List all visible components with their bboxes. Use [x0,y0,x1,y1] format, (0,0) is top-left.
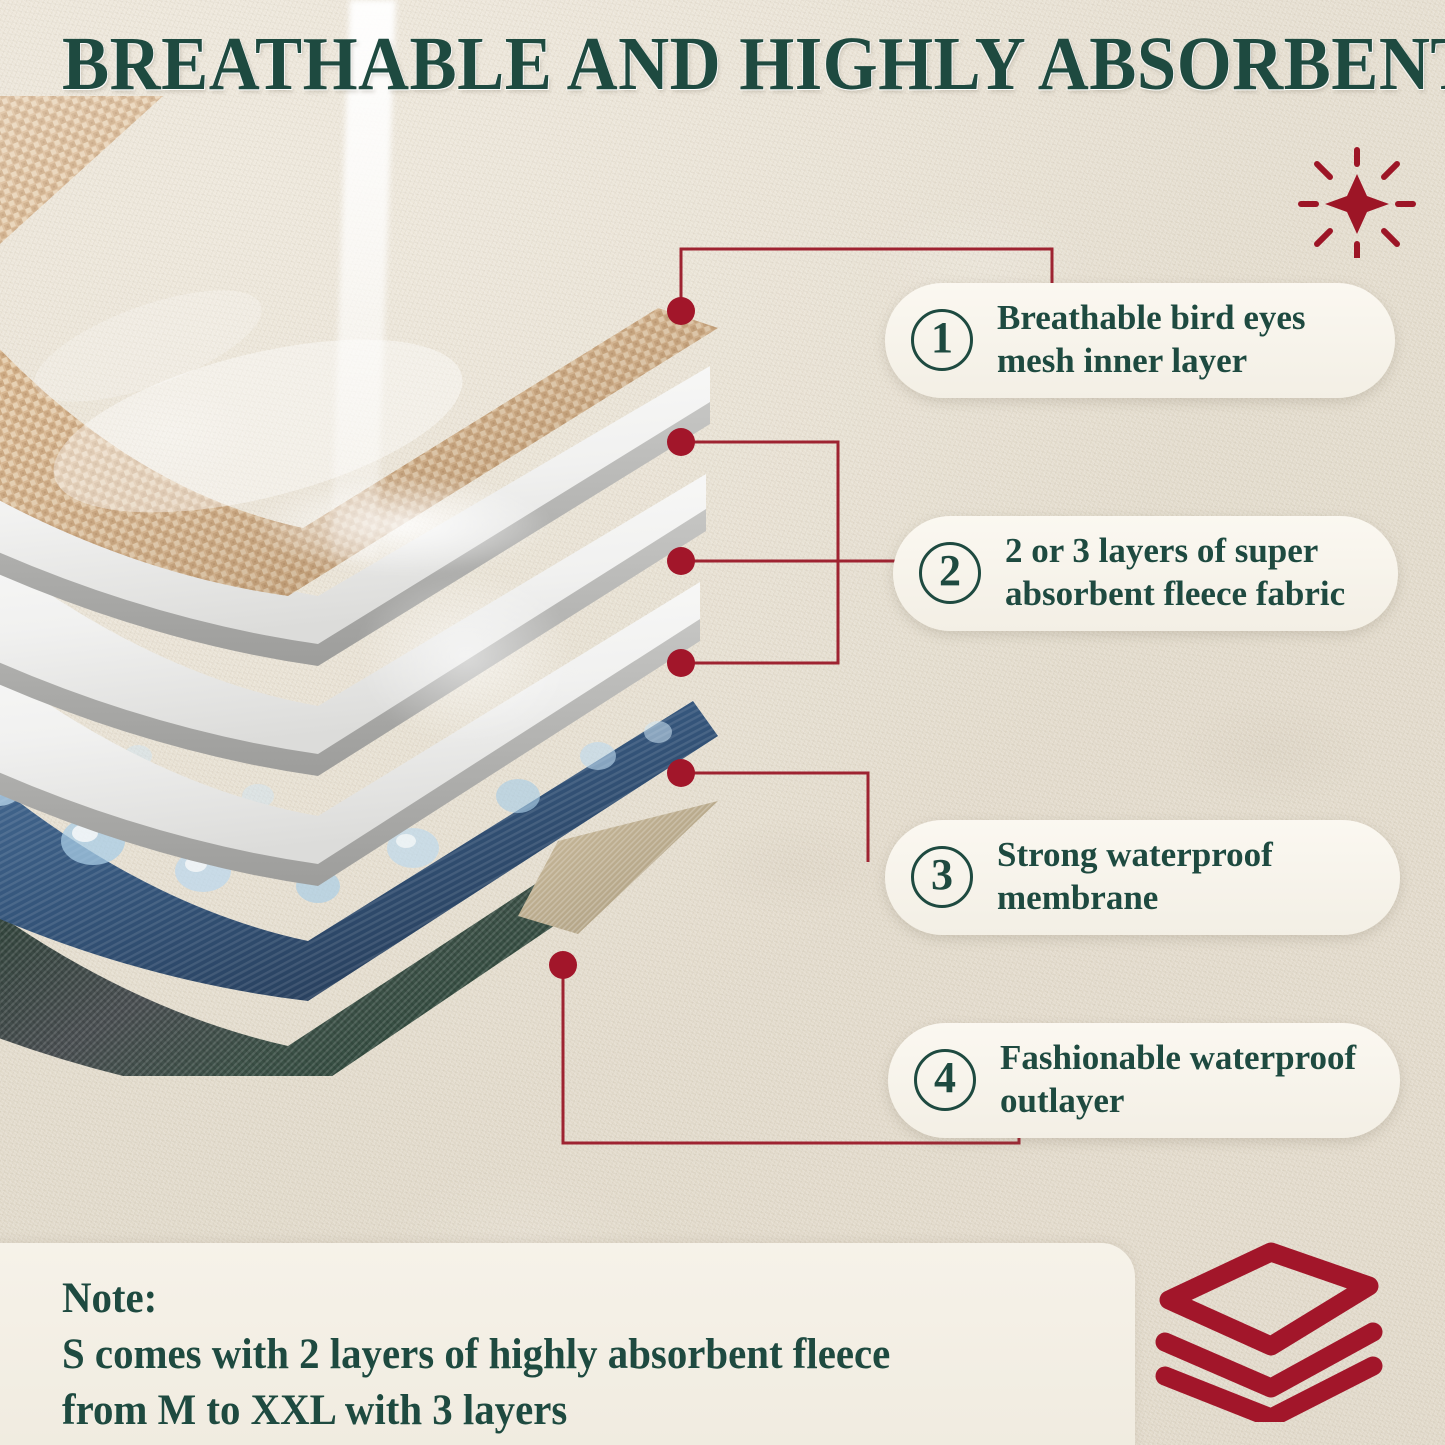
callout-text-2-line2: absorbent fleece fabric [1005,573,1345,616]
page-title: BREATHABLE AND HIGHLY ABSORBENT [62,26,1308,102]
callout-text-3: Strong waterproof membrane [997,834,1273,919]
note-box: Note: S comes with 2 layers of highly ab… [0,1243,1135,1445]
water-splash [208,426,638,756]
callout-waterproof-membrane[interactable]: 3 Strong waterproof membrane [885,820,1400,935]
callout-text-2: 2 or 3 layers of super absorbent fleece … [1005,530,1345,615]
callout-waterproof-outlayer[interactable]: 4 Fashionable waterproof outlayer [888,1023,1400,1138]
callout-text-4-line1: Fashionable waterproof [1000,1037,1356,1080]
note-line-2: from M to XXL with 3 layers [62,1383,890,1439]
callout-breathable-mesh[interactable]: 1 Breathable bird eyes mesh inner layer [885,283,1395,398]
note-heading: Note: [62,1271,890,1327]
callout-text-2-line1: 2 or 3 layers of super [1005,530,1345,573]
callout-text-3-line2: membrane [997,877,1273,920]
callout-number-2: 2 [919,542,981,604]
callout-text-4: Fashionable waterproof outlayer [1000,1037,1356,1122]
callout-text-1: Breathable bird eyes mesh inner layer [997,297,1306,382]
callout-number-1: 1 [911,309,973,371]
layers-stack-icon [1155,1238,1387,1422]
fabric-layer-stack-illustration [0,96,798,1076]
callout-absorbent-fleece[interactable]: 2 2 or 3 layers of super absorbent fleec… [893,516,1398,631]
callout-number-3: 3 [911,846,973,908]
callout-text-3-line1: Strong waterproof [997,834,1273,877]
sparkle-icon [1297,146,1417,258]
callout-text-1-line1: Breathable bird eyes [997,297,1306,340]
callout-text-1-line2: mesh inner layer [997,340,1306,383]
note-line-1: S comes with 2 layers of highly absorben… [62,1327,890,1383]
infographic-poster: BREATHABLE AND HIGHLY ABSORBENT [0,0,1445,1445]
callout-number-4: 4 [914,1049,976,1111]
note-text: Note: S comes with 2 layers of highly ab… [62,1271,890,1439]
callout-text-4-line2: outlayer [1000,1080,1356,1123]
